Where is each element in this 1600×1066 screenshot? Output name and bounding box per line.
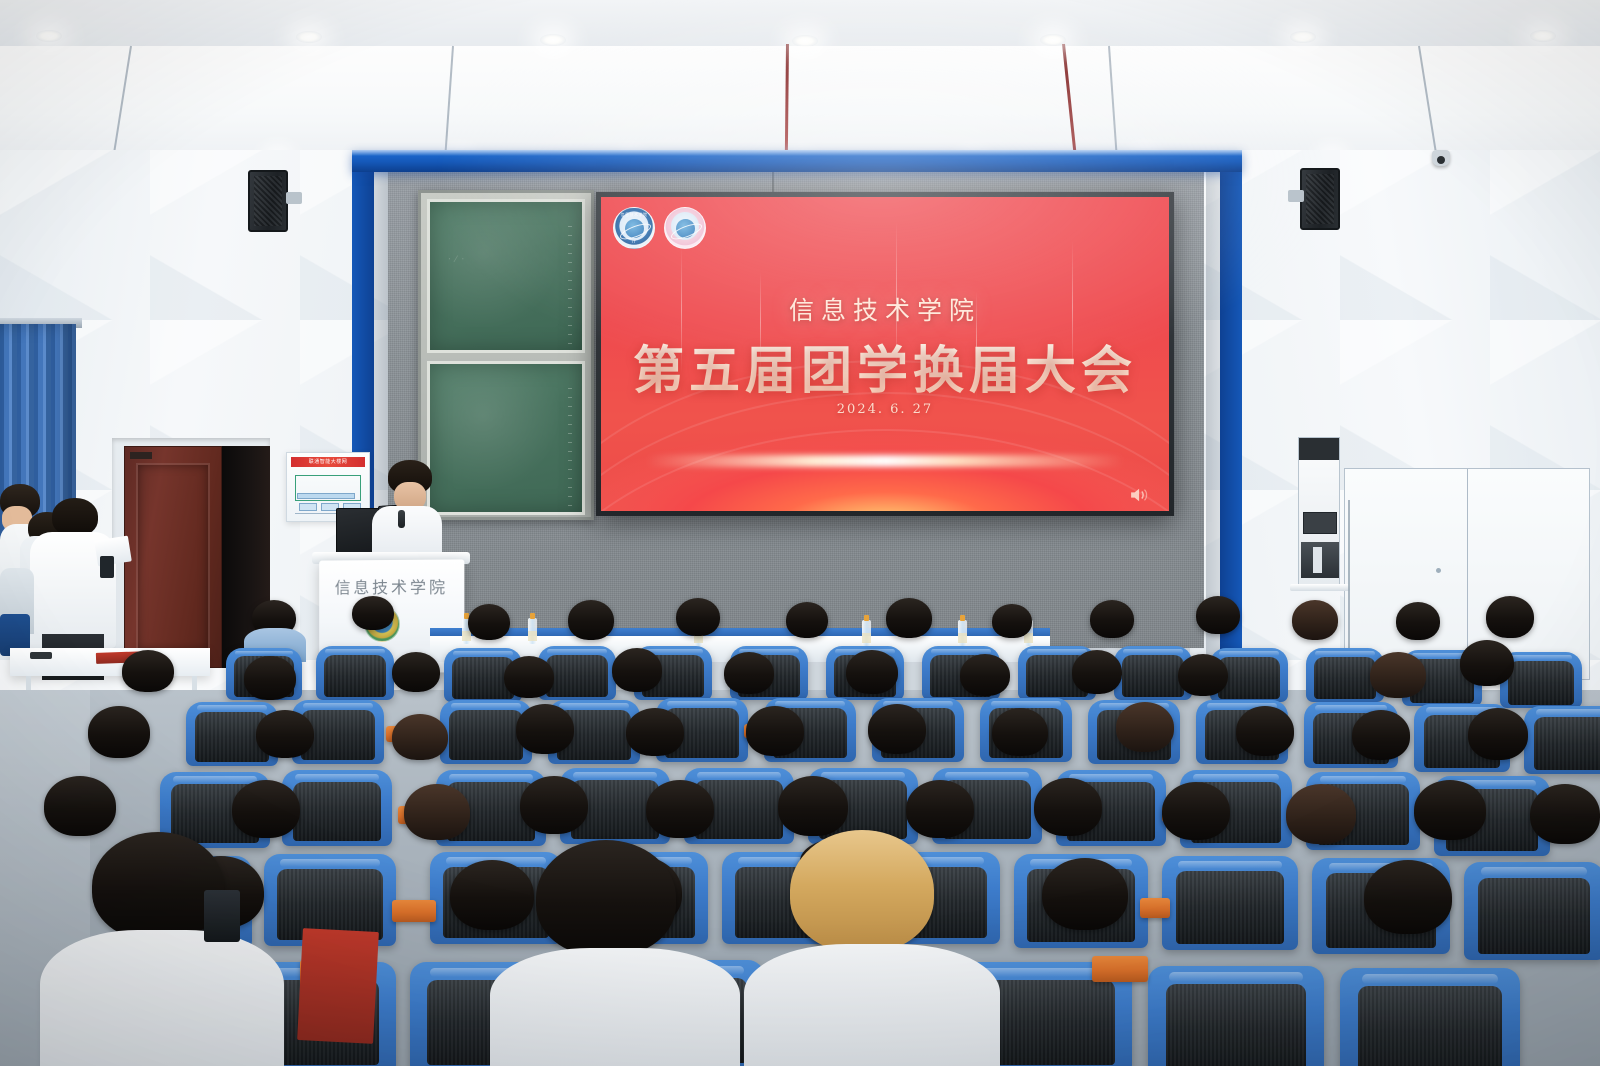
- audience-head: [1292, 600, 1338, 640]
- audience-head: [1034, 778, 1102, 836]
- speaker-volume-icon: [1129, 487, 1151, 503]
- audience-head: [724, 652, 774, 694]
- seat-highlight: [1315, 651, 1374, 656]
- audience-head: [1364, 860, 1452, 934]
- ceiling-downlight: [36, 30, 62, 42]
- audience-head: [1196, 596, 1240, 634]
- audience-head: [392, 652, 440, 692]
- door-knob-icon: [1436, 568, 1441, 573]
- audience-head: [1468, 708, 1528, 760]
- audience-head: [392, 714, 448, 760]
- seat-highlight: [1320, 776, 1407, 783]
- audience-head: [1162, 782, 1230, 840]
- speaker-bracket: [286, 192, 302, 204]
- audience-head: [1090, 600, 1134, 638]
- partner-emblem-pink-icon: [664, 207, 706, 249]
- security-camera-icon: [1432, 150, 1450, 166]
- seat-highlight: [775, 701, 845, 707]
- seat-highlight: [197, 705, 267, 711]
- audience-head: [1530, 784, 1600, 844]
- seat-highlight: [1510, 655, 1572, 660]
- seat-highlight: [945, 772, 1029, 779]
- seat-highlight: [1362, 974, 1499, 984]
- wall-speaker-right: [1300, 168, 1340, 230]
- audience-head: [626, 708, 684, 756]
- staff-hair: [52, 498, 98, 536]
- audience-head: [746, 706, 804, 756]
- poster-node: [299, 503, 317, 511]
- audience-head: [1414, 780, 1486, 840]
- audience-head-blonde-foreground: [790, 830, 934, 952]
- chalkboard-edge-scale: [568, 388, 572, 508]
- audience-head: [256, 710, 314, 758]
- audience-head: [1486, 596, 1534, 638]
- red-booklet: [297, 928, 379, 1044]
- seat-highlight: [1027, 649, 1086, 654]
- audience-head: [1286, 784, 1356, 844]
- seat-highlight: [1481, 867, 1587, 876]
- seat-highlight: [821, 772, 905, 779]
- ceiling-downlight: [540, 34, 566, 46]
- led-display-bezel: 信息技术学院 IT 信息技术学院 第五届团学换届大会 2024. 6. 27: [596, 192, 1174, 516]
- seat-highlight: [303, 703, 373, 709]
- emblem-bottom-text: IT: [632, 239, 637, 244]
- audience-head: [232, 780, 300, 838]
- audience-head: [1116, 702, 1174, 752]
- audience-head: [520, 776, 588, 834]
- seat-highlight: [559, 703, 629, 709]
- chalkboard: ‧ ⁄ ‧: [418, 190, 594, 520]
- seat-highlight: [280, 859, 380, 867]
- audience-head: [1178, 654, 1228, 696]
- ceiling-downlight: [792, 35, 818, 47]
- audience-head: [846, 650, 898, 694]
- water-bottle: [958, 620, 967, 646]
- seat: [1464, 862, 1600, 960]
- seat-highlight: [573, 772, 657, 779]
- audience-head: [886, 598, 932, 638]
- audience-head: [44, 776, 116, 836]
- audience-head: [404, 784, 470, 840]
- ceiling-downlight: [1040, 34, 1066, 46]
- audience-shoulders-foreground: [744, 944, 1000, 1066]
- water-bottle: [862, 620, 871, 646]
- door-sign-plate: [130, 452, 152, 459]
- audience-head: [468, 604, 510, 640]
- audience-head: [992, 604, 1032, 638]
- seat-highlight: [1536, 709, 1600, 715]
- table-device: [30, 652, 52, 659]
- held-phone: [204, 890, 240, 942]
- stage-trim-right: [1220, 150, 1242, 670]
- seat-highlight: [697, 772, 781, 779]
- ceiling-panels: [0, 46, 1600, 158]
- seat-highlight: [547, 649, 606, 654]
- seat-highlight: [449, 774, 533, 781]
- led-display-screen[interactable]: 信息技术学院 IT 信息技术学院 第五届团学换届大会 2024. 6. 27: [601, 197, 1169, 511]
- water-bottle: [528, 618, 537, 644]
- emblem-core: [676, 219, 695, 238]
- wall-speaker-left: [248, 170, 288, 232]
- panel-switch-block: [1301, 542, 1339, 578]
- audience-head: [676, 598, 720, 636]
- audience-head: [568, 600, 614, 640]
- poster-header-text: 联通智能大楼网: [291, 458, 365, 465]
- seat: [1148, 966, 1324, 1066]
- audience-head: [352, 596, 394, 630]
- door-left[interactable]: [124, 446, 222, 668]
- seat-highlight: [453, 651, 512, 656]
- seat: [316, 646, 394, 700]
- audience-head: [244, 656, 296, 700]
- horizon-glow: [646, 455, 1123, 467]
- screen-logo-group: 信息技术学院 IT: [613, 207, 706, 249]
- audience-head: [1352, 710, 1410, 760]
- chalk-marks: ‧ ⁄ ‧: [448, 254, 465, 265]
- panel-shelf: [1290, 584, 1350, 591]
- seat-highlight: [1219, 651, 1278, 656]
- audience-shoulders-foreground: [490, 948, 740, 1066]
- audience-head: [450, 860, 534, 930]
- screen-subtitle: 信息技术学院: [601, 291, 1169, 327]
- audience-head: [1236, 706, 1294, 756]
- audience-head: [1460, 640, 1514, 686]
- microphone-icon: [398, 510, 405, 528]
- tablet-arm-desk: [1092, 956, 1148, 982]
- audience-head: [960, 654, 1010, 696]
- seat-highlight: [295, 774, 379, 781]
- audience-head: [612, 648, 662, 692]
- audience-head: [504, 656, 554, 698]
- emblem-core: [625, 219, 644, 238]
- seat-highlight: [235, 651, 293, 656]
- it-college-emblem-blue-icon: 信息技术学院 IT: [613, 207, 655, 249]
- audience-head-foreground: [536, 840, 676, 956]
- emblem-top-text: 信息技术学院: [621, 212, 648, 218]
- screen-title: 第五届团学换届大会: [601, 329, 1169, 403]
- audience-head: [646, 780, 714, 838]
- seat: [1340, 968, 1520, 1066]
- tablet-arm-desk: [1140, 898, 1170, 918]
- audience-head: [868, 704, 926, 754]
- seat-highlight: [1169, 972, 1303, 982]
- ceiling-downlight: [1530, 30, 1556, 42]
- seat-highlight: [1193, 774, 1278, 781]
- speaker-bracket: [1288, 190, 1304, 202]
- seat-highlight: [173, 776, 257, 783]
- audience-head: [992, 708, 1048, 756]
- seat-highlight: [325, 649, 384, 654]
- poster-header-band: 联通智能大楼网: [291, 457, 365, 467]
- panel-screen: [1303, 512, 1337, 534]
- held-device: [100, 556, 114, 578]
- ceiling-downlight: [1290, 31, 1316, 43]
- seat-highlight: [1178, 861, 1281, 869]
- seat-highlight: [451, 703, 521, 709]
- seat-highlight: [931, 649, 990, 654]
- panel-header-block: [1299, 438, 1339, 460]
- valance-highlight: [352, 150, 1242, 156]
- auditorium-photo: ‧ ⁄ ‧ 信息技术学院 IT: [0, 0, 1600, 1066]
- audience-head: [1042, 858, 1128, 930]
- poster-node: [297, 493, 355, 499]
- chalkboard-panel-lower: [427, 361, 585, 515]
- seat: [1524, 706, 1600, 774]
- audience-head: [906, 780, 974, 838]
- audience-shoulders-foreground: [40, 930, 284, 1066]
- av-control-panel[interactable]: [1298, 437, 1340, 585]
- podium-label: 信息技术学院: [319, 574, 464, 599]
- audience-head: [88, 706, 150, 758]
- seat-highlight: [667, 701, 737, 707]
- audience-head: [778, 776, 848, 836]
- ceiling-downlight: [296, 31, 322, 43]
- screen-date: 2024. 6. 27: [601, 402, 1169, 417]
- audience-head: [1072, 650, 1122, 694]
- audience-head: [786, 602, 828, 638]
- seat-highlight: [991, 701, 1061, 707]
- audience-head: [1370, 652, 1426, 698]
- tablet-arm-desk: [392, 900, 436, 922]
- audience-head: [122, 650, 174, 692]
- audience-head: [1396, 602, 1440, 640]
- seat-highlight: [1123, 649, 1182, 654]
- audience-head: [516, 704, 574, 754]
- chalkboard-edge-scale: [568, 226, 572, 346]
- seat: [1162, 856, 1298, 950]
- chalkboard-panel-upper: ‧ ⁄ ‧: [427, 199, 585, 353]
